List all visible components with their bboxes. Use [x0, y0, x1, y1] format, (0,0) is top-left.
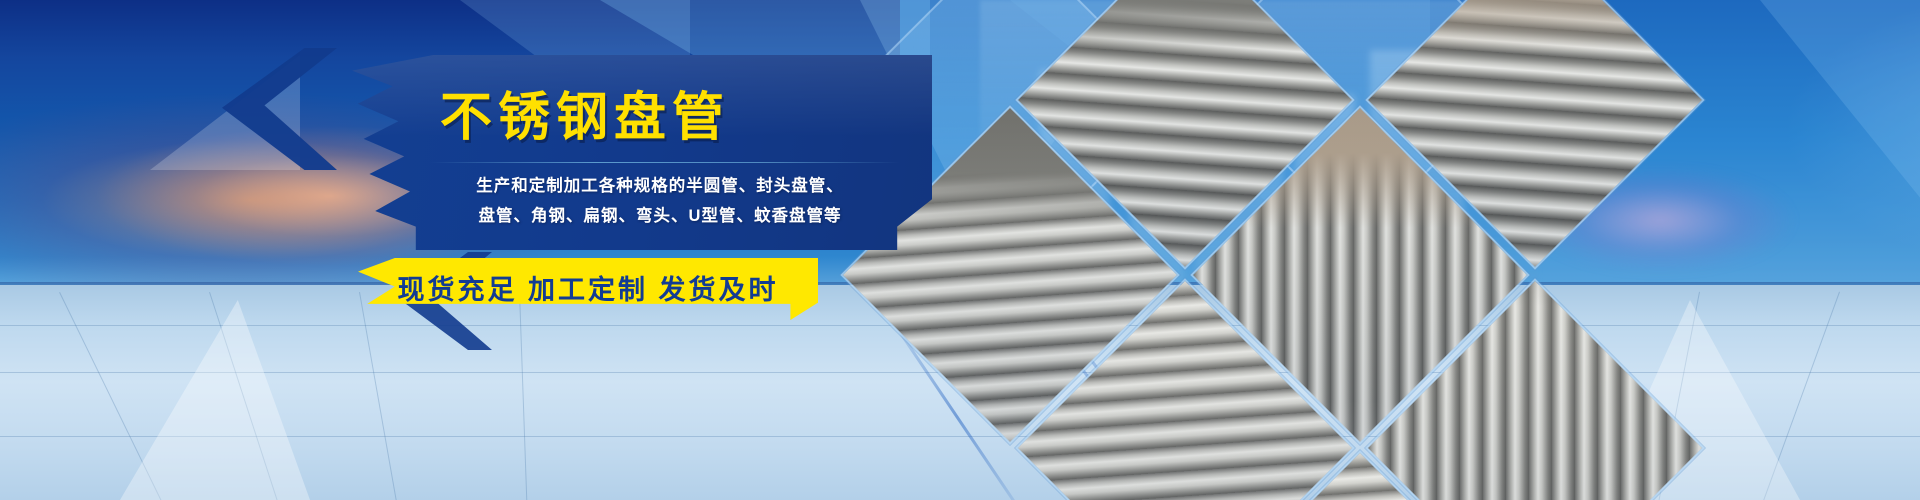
- subtitle-line-1: 生产和定制加工各种规格的半圆管、封头盘管、: [400, 172, 920, 196]
- page-title: 不锈钢盘管: [440, 92, 920, 144]
- panel-divider: [430, 162, 900, 163]
- promo-banner: 不锈钢盘管 生产和定制加工各种规格的半圆管、封头盘管、 盘管、角钢、扁钢、弯头、…: [0, 0, 1920, 500]
- feature-ribbon-text: 现货充足 加工定制 发货及时: [358, 268, 818, 307]
- product-photo-diamond-grid: [820, 0, 1920, 500]
- subtitle-line-2: 盘管、角钢、扁钢、弯头、U型管、蚊香盘管等: [400, 202, 920, 226]
